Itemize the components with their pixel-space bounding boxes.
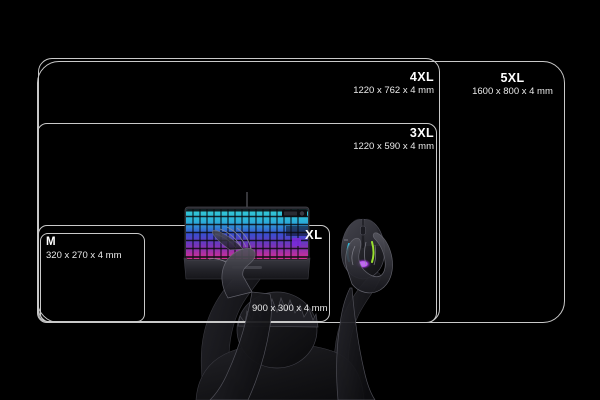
pad-label-xl: XL: [305, 228, 329, 243]
pad-dimensions-xl-wrap: 900 x 300 x 4 mm: [252, 304, 372, 315]
pad-name-m: M: [46, 236, 144, 249]
pad-label-5xl: 5XL 1600 x 800 x 4 mm: [440, 71, 585, 98]
pad-label-m: M 320 x 270 x 4 mm: [46, 236, 144, 262]
pad-dimensions-m: 320 x 270 x 4 mm: [46, 251, 144, 262]
pad-name-5xl: 5XL: [440, 71, 585, 85]
size-comparison-scene: 5XL 1600 x 800 x 4 mm 4XL 1220 x 762 x 4…: [0, 0, 600, 400]
pad-name-3xl: 3XL: [300, 126, 434, 140]
pad-label-3xl: 3XL 1220 x 590 x 4 mm: [300, 126, 434, 153]
pad-dimensions-5xl: 1600 x 800 x 4 mm: [440, 87, 585, 98]
pad-dimensions-xl: 900 x 300 x 4 mm: [252, 304, 372, 315]
pad-dimensions-4xl: 1220 x 762 x 4 mm: [300, 86, 434, 97]
pad-dimensions-3xl: 1220 x 590 x 4 mm: [300, 142, 434, 153]
pad-label-4xl: 4XL 1220 x 762 x 4 mm: [300, 70, 434, 97]
pad-name-4xl: 4XL: [300, 70, 434, 84]
pad-name-xl: XL: [305, 228, 329, 243]
